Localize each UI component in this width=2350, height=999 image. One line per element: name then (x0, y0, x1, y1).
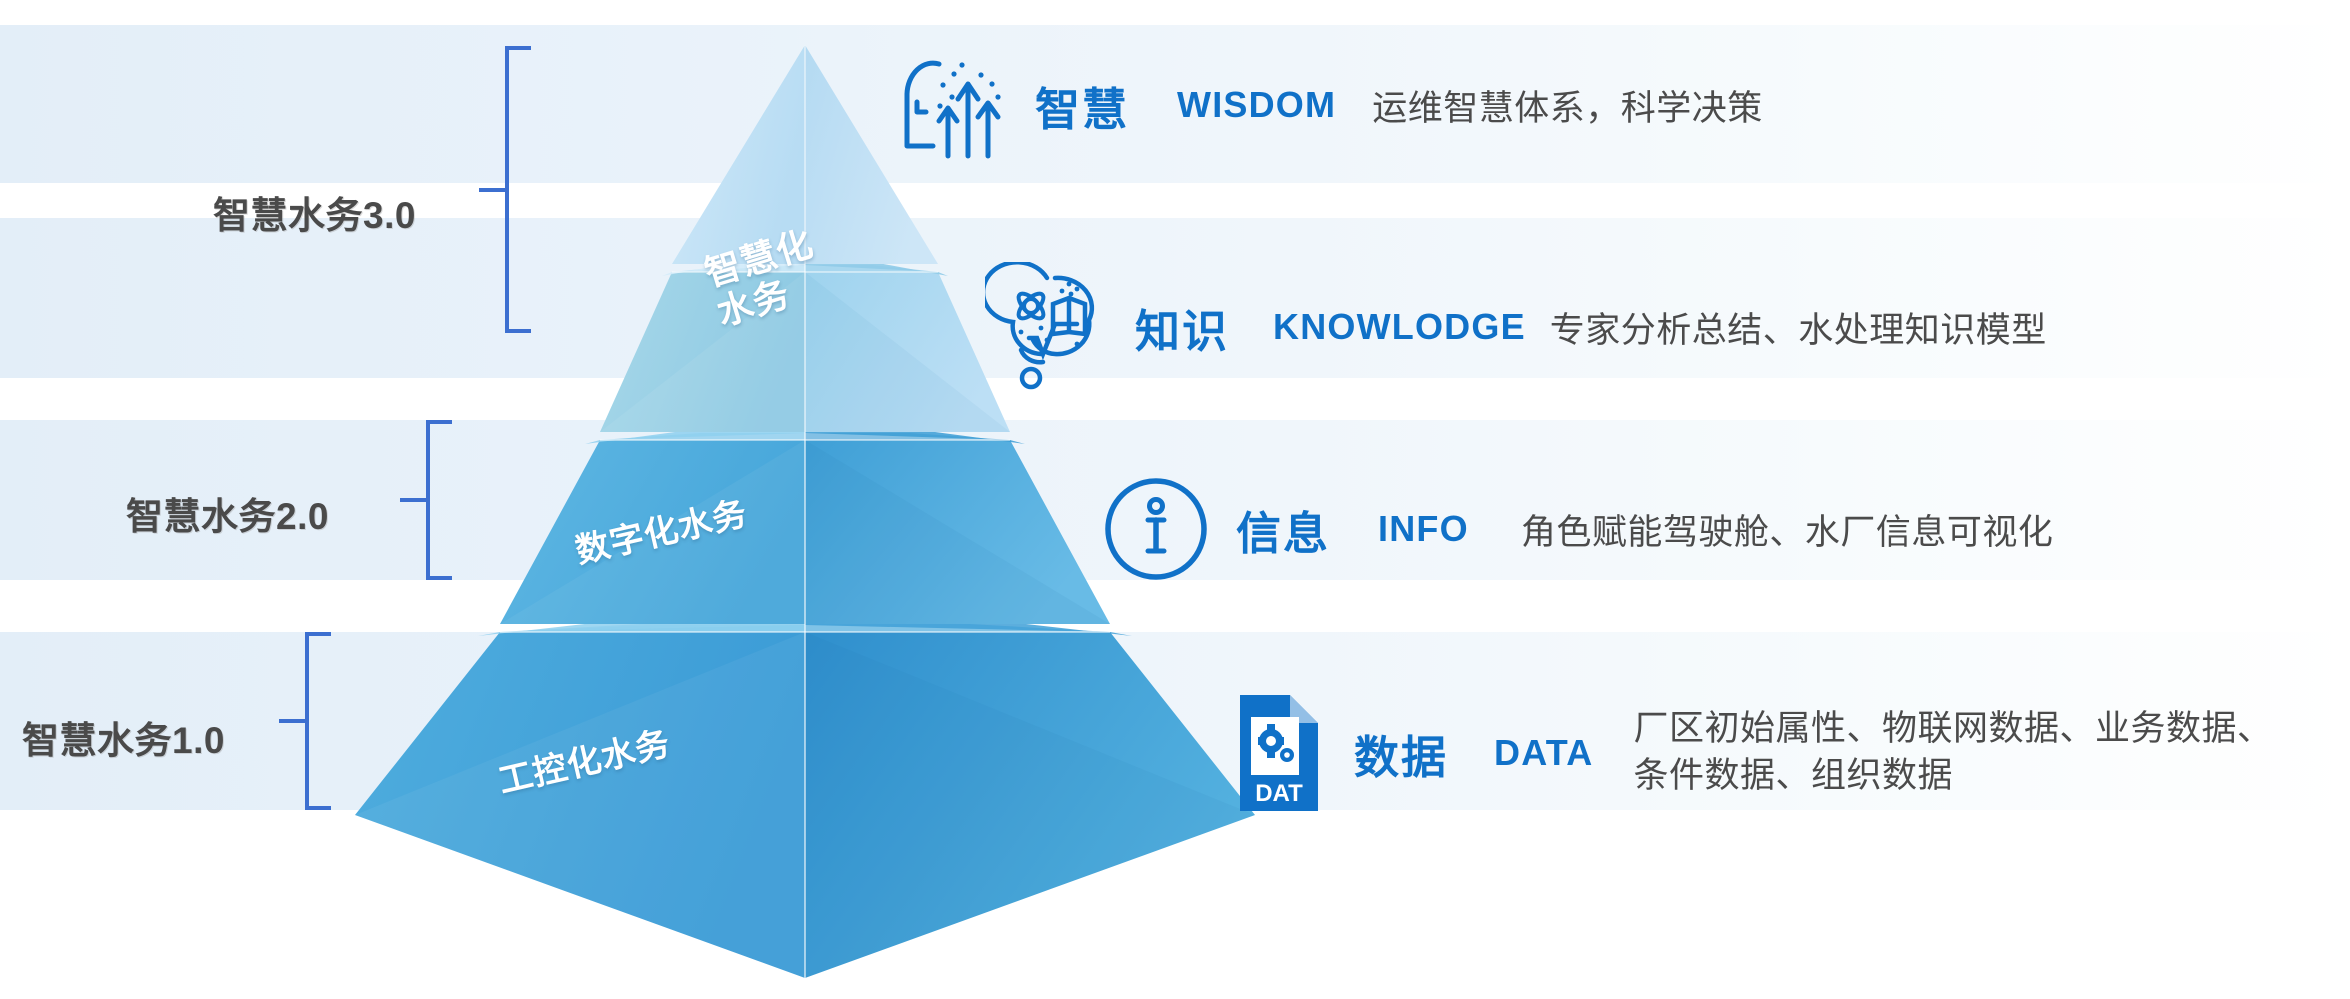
row-info-desc: 角色赋能驾驶舱、水厂信息可视化 (1521, 504, 2054, 555)
info-circle-icon (1100, 470, 1212, 588)
bracket-3-cap-bottom (505, 329, 531, 333)
row-info: 信息 INFO 角色赋能驾驶舱、水厂信息可视化 (1100, 470, 2053, 588)
bracket-1-line (305, 632, 309, 810)
row-data: DAT 数据 DATA 厂区初始属性、物联网数据、业务数据、 条件数据、组织数据 (1232, 688, 2272, 818)
bracket-3-cap-top (505, 46, 531, 50)
stage-label-2: 智慧水务2.0 (126, 486, 329, 540)
tier-wisdom-shape (600, 263, 1010, 432)
bracket-1-cap-top (305, 632, 331, 636)
bracket-2-tick (400, 498, 426, 502)
head-arrows-icon (893, 50, 1011, 160)
bracket-1-tick (279, 719, 305, 723)
row-wisdom-desc: 运维智慧体系，科学决策 (1372, 80, 1763, 131)
bracket-stage-3 (497, 46, 537, 333)
svg-text:DAT: DAT (1255, 780, 1303, 807)
bracket-3-tick (479, 188, 505, 192)
row-data-desc: 厂区初始属性、物联网数据、业务数据、 条件数据、组织数据 (1633, 706, 2272, 800)
tier-control-shape (355, 620, 1255, 978)
bracket-stage-1 (297, 632, 337, 810)
row-knowledge: 知识 KNOWLODGE 专家分析总结、水处理知识模型 (985, 262, 2047, 392)
bracket-2-line (426, 420, 430, 580)
row-data-en: DATA (1494, 732, 1593, 774)
bracket-3-line (505, 46, 509, 333)
bracket-2-cap-top (426, 420, 452, 424)
row-wisdom: 智慧 WISDOM 运维智慧体系，科学决策 (893, 50, 1763, 160)
stage-label-1: 智慧水务1.0 (22, 710, 225, 764)
row-wisdom-en: WISDOM (1177, 84, 1336, 126)
bracket-stage-2 (418, 420, 458, 580)
stage-label-3: 智慧水务3.0 (213, 185, 416, 239)
row-info-cn: 信息 (1236, 497, 1330, 562)
row-wisdom-cn: 智慧 (1035, 73, 1129, 138)
dat-file-icon: DAT (1232, 689, 1328, 817)
row-knowledge-cn: 知识 (1135, 295, 1229, 360)
row-info-en: INFO (1378, 508, 1469, 550)
row-knowledge-en: KNOWLODGE (1273, 306, 1526, 348)
bracket-2-cap-bottom (426, 576, 452, 580)
bracket-1-cap-bottom (305, 806, 331, 810)
knowledge-brain-icon (985, 262, 1113, 392)
tier-digital-shape (500, 430, 1110, 624)
row-data-cn: 数据 (1354, 721, 1448, 786)
row-knowledge-desc: 专家分析总结、水处理知识模型 (1550, 302, 2047, 353)
diagram-canvas: 智慧化 水务 数字化水务 工控化水务 智慧水务3.0 智慧水务2.0 智慧水务1… (0, 0, 2350, 999)
